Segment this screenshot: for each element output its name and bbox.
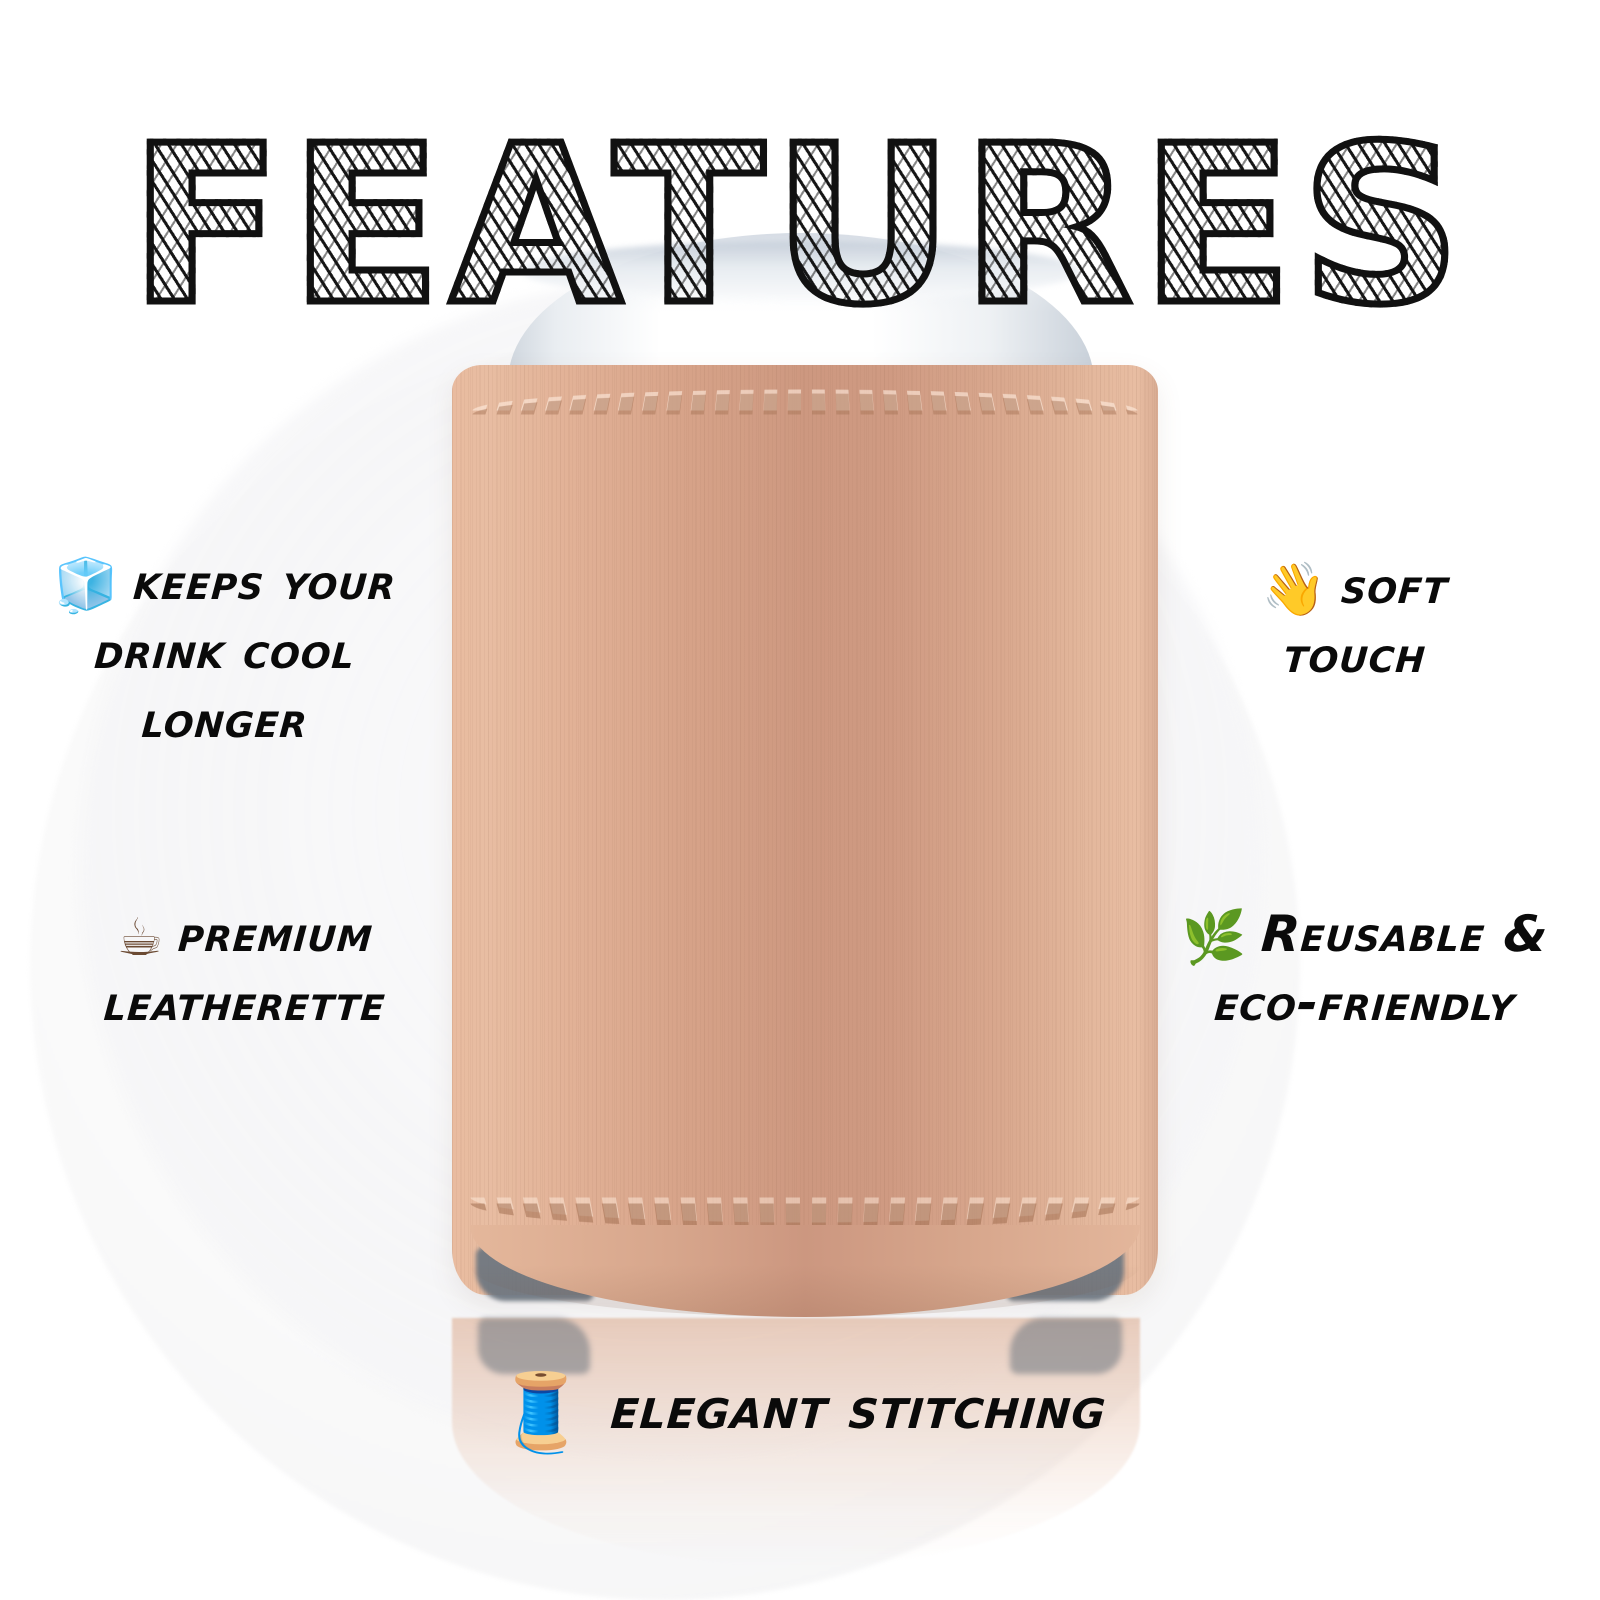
coffee-cup-icon: ☕	[117, 912, 165, 964]
can-rim	[522, 241, 1080, 301]
feature-infographic: FEATURES 🧊Keeps Your Drink Cool longer ☕…	[0, 0, 1600, 1600]
product-image	[430, 225, 1170, 1345]
feature-text: Keeps Your	[132, 553, 398, 611]
feature-text: Elegant Stitching	[609, 1374, 1109, 1442]
feature-line: longer	[8, 686, 443, 755]
waving-hand-icon: 👋	[1262, 564, 1328, 616]
leatherette-sleeve	[452, 365, 1158, 1295]
herb-leaf-icon: 🌿	[1181, 912, 1247, 964]
feature-line: Touch	[1138, 621, 1573, 690]
feature-soft-touch: 👋Soft Touch	[1140, 552, 1570, 690]
feature-line: Drink Cool	[8, 617, 443, 686]
feature-line: 🌿Reusable &	[1128, 900, 1600, 969]
feature-line: 👋Soft	[1138, 552, 1573, 621]
feature-line: 🧊Keeps Your	[8, 548, 443, 617]
thread-spool-icon: 🧵	[493, 1374, 589, 1450]
feature-line: Leatherette	[28, 969, 463, 1038]
feature-text: Premium	[177, 905, 376, 963]
feature-elegant-stitching: 🧵Elegant Stitching	[320, 1368, 1280, 1450]
sleeve-foot-shade	[470, 1265, 1140, 1317]
feature-text: Reusable &	[1259, 905, 1550, 963]
feature-premium-leatherette: ☕Premium Leatherette	[30, 900, 460, 1038]
feature-text: Soft	[1340, 557, 1451, 615]
feature-line: 🧵Elegant Stitching	[317, 1368, 1283, 1450]
ice-cube-icon: 🧊	[54, 560, 120, 612]
feature-line: Eco-Friendly	[1128, 969, 1600, 1038]
feature-line: ☕Premium	[28, 900, 463, 969]
feature-reusable-eco-friendly: 🌿Reusable & Eco-Friendly	[1130, 900, 1600, 1038]
feature-keeps-drink-cool: 🧊Keeps Your Drink Cool longer	[10, 548, 440, 755]
